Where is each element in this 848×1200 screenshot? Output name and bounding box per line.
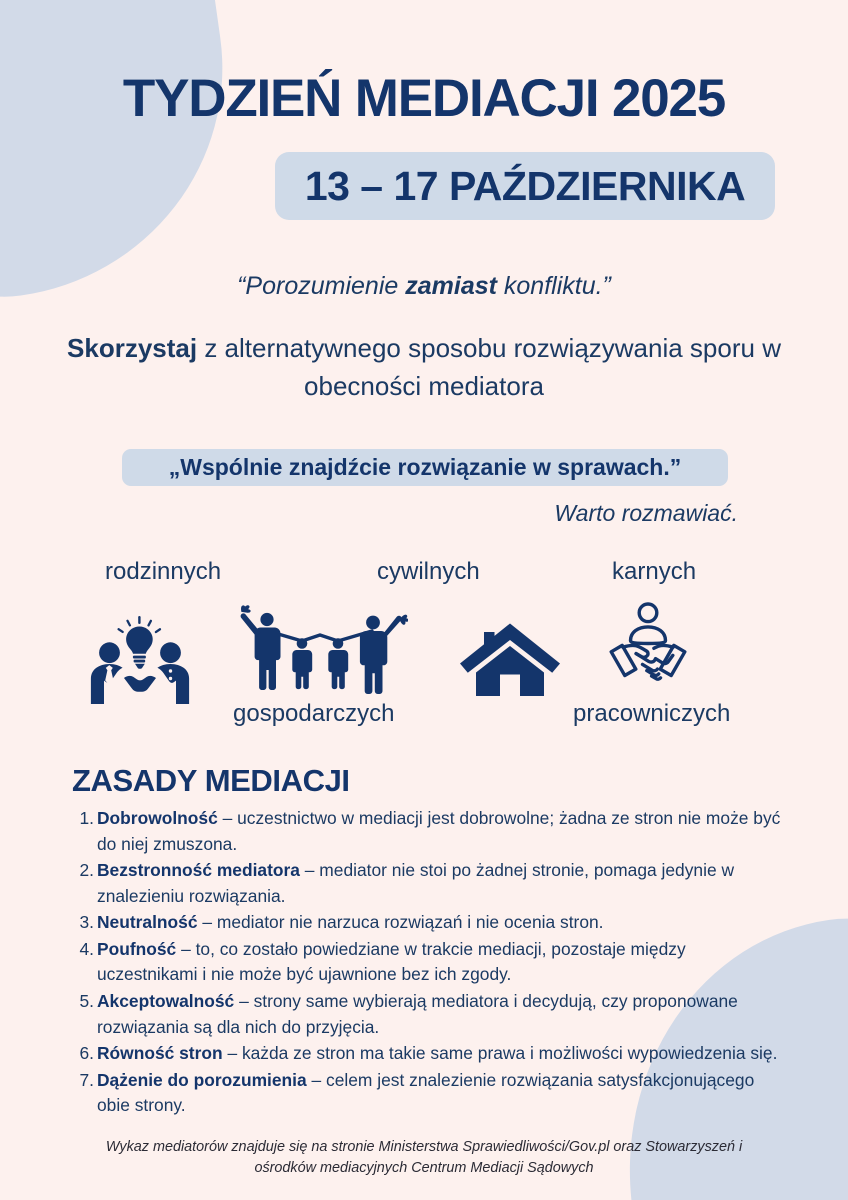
lead-emphasis: Skorzystaj bbox=[67, 333, 197, 363]
rule-number: 3. bbox=[74, 910, 97, 936]
rule-term: Poufność bbox=[97, 939, 176, 959]
person-handshake-icon bbox=[592, 600, 704, 696]
rule-body: Poufność – to, co zostało powiedziane w … bbox=[97, 937, 786, 988]
category-label-cywilnych: cywilnych bbox=[377, 558, 480, 586]
rules-heading: ZASADY MEDIACJI bbox=[72, 763, 350, 799]
rule-term: Dobrowolność bbox=[97, 808, 218, 828]
category-label-gospodarczych: gospodarczych bbox=[233, 700, 394, 728]
quote-badge-label: „Wspólnie znajdźcie rozwiązanie w sprawa… bbox=[169, 454, 682, 481]
date-badge-label: 13 – 17 PAŹDZIERNIKA bbox=[305, 163, 745, 210]
rule-description: – to, co zostało powiedziane w trakcie m… bbox=[97, 939, 686, 985]
rule-number: 1. bbox=[74, 806, 97, 832]
rule-number: 7. bbox=[74, 1068, 97, 1094]
rule-item: 4. Poufność – to, co zostało powiedziane… bbox=[74, 937, 786, 988]
rule-item: 3. Neutralność – mediator nie narzuca ro… bbox=[74, 910, 786, 936]
family-group-icon bbox=[232, 602, 408, 694]
rule-term: Równość stron bbox=[97, 1043, 223, 1063]
rule-item: 1. Dobrowolność – uczestnictwo w mediacj… bbox=[74, 806, 786, 857]
rule-item: 7. Dążenie do porozumienia – celem jest … bbox=[74, 1068, 786, 1119]
rule-term: Neutralność bbox=[97, 912, 198, 932]
quote-subtext: Warto rozmawiać. bbox=[554, 500, 738, 527]
poster-content: TYDZIEŃ MEDIACJI 2025 13 – 17 PAŹDZIERNI… bbox=[0, 0, 848, 1200]
rule-body: Akceptowalność – strony same wybierają m… bbox=[97, 989, 786, 1040]
category-label-rodzinnych: rodzinnych bbox=[105, 558, 221, 586]
rule-body: Dążenie do porozumienia – celem jest zna… bbox=[97, 1068, 786, 1119]
rule-term: Dążenie do porozumienia bbox=[97, 1070, 307, 1090]
rule-number: 6. bbox=[74, 1041, 97, 1067]
lead-rest: z alternatywnego sposobu rozwiązywania s… bbox=[197, 333, 781, 401]
rule-description: – mediator nie narzuca rozwiązań i nie o… bbox=[198, 912, 604, 932]
rule-item: 5. Akceptowalność – strony same wybieraj… bbox=[74, 989, 786, 1040]
category-label-pracowniczych: pracowniczych bbox=[573, 700, 730, 728]
rule-number: 2. bbox=[74, 858, 97, 884]
quote-badge: „Wspólnie znajdźcie rozwiązanie w sprawa… bbox=[122, 449, 728, 486]
rule-number: 5. bbox=[74, 989, 97, 1015]
date-badge: 13 – 17 PAŹDZIERNIKA bbox=[275, 152, 775, 220]
house-icon bbox=[458, 620, 562, 696]
rule-body: Równość stron – każda ze stron ma takie … bbox=[97, 1041, 786, 1067]
rule-body: Neutralność – mediator nie narzuca rozwi… bbox=[97, 910, 786, 936]
lead-paragraph: Skorzystaj z alternatywnego sposobu rozw… bbox=[64, 330, 784, 405]
rule-item: 6. Równość stron – każda ze stron ma tak… bbox=[74, 1041, 786, 1067]
slogan-suffix: konfliktu.” bbox=[497, 272, 611, 300]
category-label-karnych: karnych bbox=[612, 558, 696, 586]
rule-term: Akceptowalność bbox=[97, 991, 234, 1011]
handshake-lightbulb-icon bbox=[84, 612, 196, 704]
slogan-emphasis: zamiast bbox=[405, 272, 497, 300]
footer-note: Wykaz mediatorów znajduje się na stronie… bbox=[84, 1137, 764, 1179]
rule-body: Bezstronność mediatora – mediator nie st… bbox=[97, 858, 786, 909]
poster-root: TYDZIEŃ MEDIACJI 2025 13 – 17 PAŹDZIERNI… bbox=[0, 0, 848, 1200]
slogan-prefix: “Porozumienie bbox=[237, 272, 405, 300]
rule-body: Dobrowolność – uczestnictwo w mediacji j… bbox=[97, 806, 786, 857]
rule-number: 4. bbox=[74, 937, 97, 963]
page-title: TYDZIEŃ MEDIACJI 2025 bbox=[0, 72, 848, 125]
rule-description: – każda ze stron ma takie same prawa i m… bbox=[223, 1043, 778, 1063]
rule-item: 2. Bezstronność mediatora – mediator nie… bbox=[74, 858, 786, 909]
rules-list: 1. Dobrowolność – uczestnictwo w mediacj… bbox=[74, 806, 786, 1120]
slogan: “Porozumienie zamiast konfliktu.” bbox=[0, 272, 848, 301]
rule-term: Bezstronność mediatora bbox=[97, 860, 300, 880]
